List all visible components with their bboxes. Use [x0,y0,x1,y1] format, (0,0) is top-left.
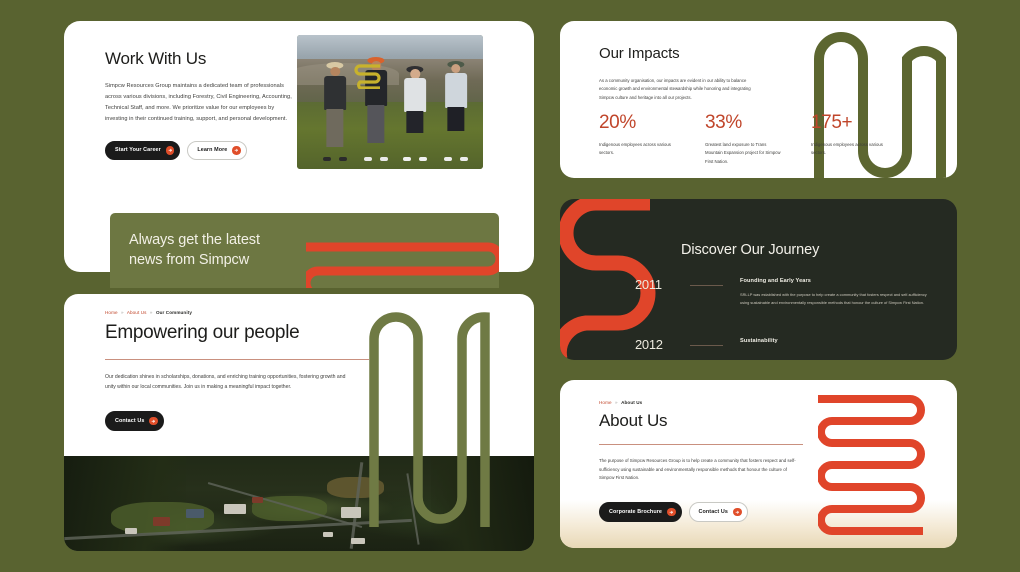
learn-more-label: Learn More [197,147,227,153]
news-banner: Always get the latest news from Simpcw [110,213,499,288]
stat-item: 175+ Indigenous employees across various… [811,113,891,166]
orange-serpentine-graphic [818,392,933,536]
stat-caption: Indigenous employees across various sect… [811,141,891,158]
news-banner-text: Always get the latest news from Simpcw [129,231,260,270]
olive-serpentine-graphic [366,303,493,533]
start-your-career-button[interactable]: Start Your Career [105,141,180,161]
impacts-heading: Our Impacts [599,45,680,62]
work-heading: Work With Us [105,49,295,69]
breadcrumb-home[interactable]: Home [105,310,118,315]
work-content: Work With Us Simpcw Resources Group main… [105,49,295,160]
divider [599,444,803,445]
breadcrumb-separator: » [615,400,618,405]
aerial-building [125,528,137,534]
breadcrumb-about-us[interactable]: About Us [127,310,147,315]
breadcrumb-current: About Us [621,400,642,405]
divider [105,359,369,360]
people-paragraph: Our dedication shines in scholarships, d… [105,373,348,393]
orange-serpentine-graphic [306,233,499,288]
contact-us-button[interactable]: Contact Us [105,411,164,431]
photo-person [401,67,429,161]
aerial-building [323,532,333,537]
photo-person [321,65,349,161]
arrow-right-icon [733,508,742,517]
impacts-paragraph: As a community organisation, our impacts… [599,77,762,102]
aerial-building [186,509,204,518]
card-about-us: Home » About Us About Us The purpose of … [560,380,957,548]
stat-value: 20% [599,113,679,132]
news-line-2: news from Simpcw [129,251,260,271]
timeline-title: Sustainability [740,338,778,344]
stat-caption: Greatest land exposure to Trans Mountain… [705,141,785,166]
design-board: Work With Us Simpcw Resources Group main… [0,0,1020,572]
news-line-1: Always get the latest [129,231,260,251]
start-your-career-label: Start Your Career [115,147,161,153]
aerial-building [341,507,361,518]
contact-us-label: Contact Us [115,418,144,424]
about-button-row: Corporate Brochure Contact Us [599,502,748,522]
yellow-serpentine-graphic [351,63,381,89]
timeline-body: SRLLP was established with the purpose t… [740,291,927,307]
stat-item: 33% Greatest land exposure to Trans Moun… [705,113,785,166]
about-heading: About Us [599,411,667,431]
breadcrumb-home[interactable]: Home [599,400,612,405]
card-empowering-our-people: Home » About Us » Our Community Empoweri… [64,294,534,551]
arrow-right-icon [166,146,175,155]
journey-heading: Discover Our Journey [681,242,819,258]
arrow-right-icon [149,417,158,426]
work-team-photo [297,35,483,169]
breadcrumb-current: Our Community [156,310,192,315]
learn-more-button[interactable]: Learn More [187,141,247,161]
contact-us-button[interactable]: Contact Us [689,502,748,522]
corporate-brochure-button[interactable]: Corporate Brochure [599,502,682,522]
breadcrumb: Home » About Us » Our Community [105,310,192,315]
aerial-building [351,538,365,544]
arrow-right-icon [667,508,676,517]
timeline-year: 2011 [635,277,662,292]
timeline-connector [690,345,723,346]
aerial-building [224,504,246,514]
card-discover-our-journey: Discover Our Journey 2011 Founding and E… [560,199,957,360]
stat-value: 175+ [811,113,891,132]
work-paragraph: Simpcw Resources Group maintains a dedic… [105,81,295,125]
aerial-building [153,517,170,526]
arrow-right-icon [232,146,241,155]
card-our-impacts: Our Impacts As a community organisation,… [560,21,957,178]
contact-us-label: Contact Us [699,509,728,515]
aerial-building [252,497,263,503]
corporate-brochure-label: Corporate Brochure [609,509,662,515]
work-button-row: Start Your Career Learn More [105,141,295,161]
stat-caption: Indigenous employees across various sect… [599,141,679,158]
timeline-title: Founding and Early Years [740,278,811,284]
breadcrumb-separator: » [150,310,153,315]
breadcrumb-separator: » [121,310,124,315]
breadcrumb: Home » About Us [599,400,642,405]
timeline-year: 2012 [635,337,663,352]
stat-item: 20% Indigenous employees across various … [599,113,679,166]
stat-value: 33% [705,113,785,132]
timeline-connector [690,285,723,286]
about-paragraph: The purpose of Simpcw Resources Group is… [599,457,802,483]
impacts-stat-group: 20% Indigenous employees across various … [599,113,891,166]
photo-person [442,62,470,161]
people-heading: Empowering our people [105,322,299,344]
